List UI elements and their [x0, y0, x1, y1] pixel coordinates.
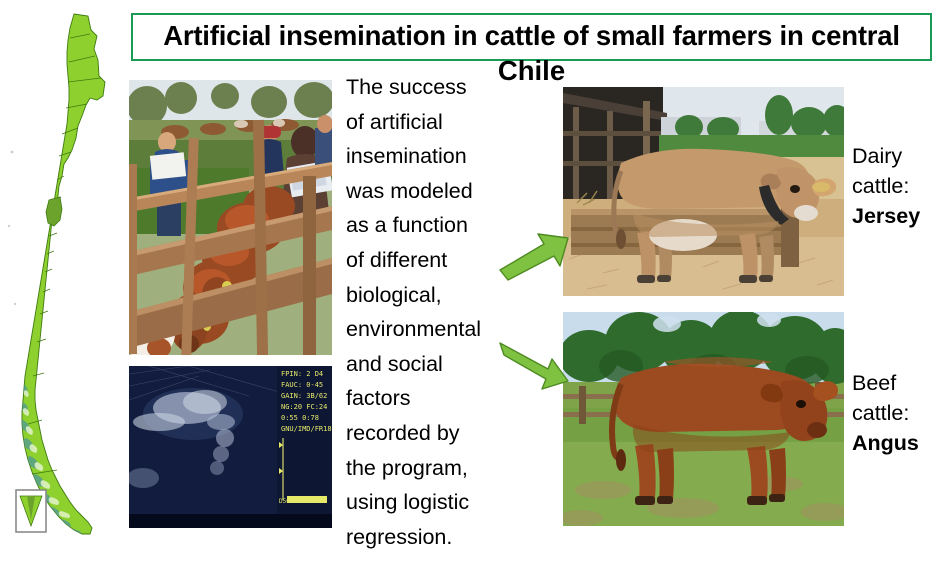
dairy-caption-line1: Dairy [852, 141, 946, 171]
jersey-cow-photo [563, 87, 844, 296]
body-paragraph: The success of artificial insemination w… [346, 70, 498, 554]
svg-text:GNU/IMD/FR18: GNU/IMD/FR18 [281, 425, 332, 433]
chile-landmass [22, 14, 105, 534]
highlight-central-chile [46, 197, 62, 226]
page-title: Artificial insemination in cattle of sma… [131, 16, 932, 56]
region-borders [28, 34, 101, 474]
page-title-overflow: Chile [131, 56, 932, 86]
beef-caption-line2: cattle: [852, 398, 946, 428]
dairy-cattle-caption: Dairy cattle: Jersey [852, 141, 946, 231]
body-line: of different [346, 243, 498, 278]
arrow-to-dairy [498, 228, 570, 282]
body-line: biological, [346, 278, 498, 313]
svg-text:FAUC: 0-45: FAUC: 0-45 [281, 381, 323, 389]
body-line: recorded by [346, 416, 498, 451]
map-inset-box [16, 490, 46, 532]
body-line: insemination [346, 139, 498, 174]
svg-text:NG:20 FC:24: NG:20 FC:24 [281, 403, 327, 411]
dairy-caption-line2: cattle: [852, 171, 946, 201]
body-line: of artificial [346, 105, 498, 140]
dairy-breed-label: Jersey [852, 201, 946, 231]
map-background-dots [8, 151, 16, 306]
svg-text:0:55 0:78: 0:55 0:78 [281, 414, 319, 422]
body-line: factors [346, 381, 498, 416]
beef-cattle-caption: Beef cattle: Angus [852, 368, 946, 458]
body-line: using logistic [346, 485, 498, 520]
svg-text:GAIN: 3B/62: GAIN: 3B/62 [281, 392, 327, 400]
arrow-to-beef [498, 333, 570, 393]
body-line: as a function [346, 208, 498, 243]
body-line: environmental [346, 312, 498, 347]
beef-caption-line1: Beef [852, 368, 946, 398]
chile-map [2, 4, 126, 560]
body-line: was modeled [346, 174, 498, 209]
corral-cattle-photo [129, 80, 332, 355]
beef-breed-label: Angus [852, 428, 946, 458]
svg-text:FPIN: 2 D4: FPIN: 2 D4 [281, 370, 323, 378]
body-line: the program, [346, 451, 498, 486]
body-line: and social [346, 347, 498, 382]
angus-cow-photo [563, 312, 844, 526]
body-line: regression. [346, 520, 498, 555]
ultrasound-photo: FPIN: 2 D4 FAUC: 0-45 GAIN: 3B/62 NG:20 … [129, 366, 332, 528]
svg-text:D50: D50 [279, 498, 290, 505]
